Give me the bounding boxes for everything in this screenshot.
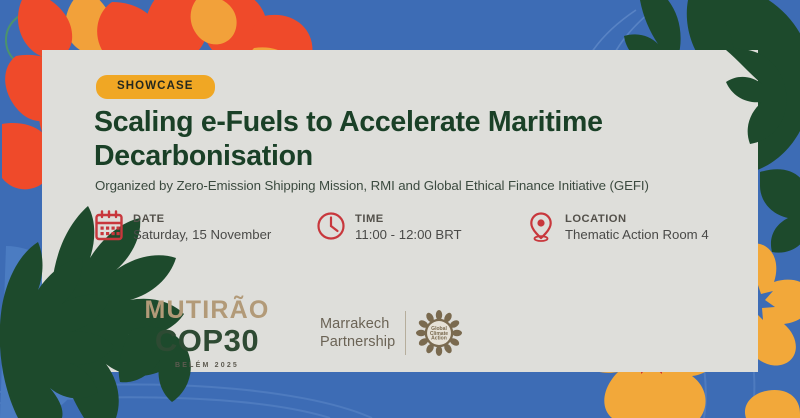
detail-time-label: TIME xyxy=(355,212,462,226)
event-title-line1: Scaling e-Fuels to Accelerate Maritime xyxy=(94,106,603,138)
detail-time-text: TIME 11:00 - 12:00 BRT xyxy=(355,211,462,244)
logo-lockup: MUTIRÃO COP30 BELÉM 2025 Marrakech Partn… xyxy=(112,298,462,369)
showcase-badge: SHOWCASE xyxy=(96,75,215,99)
event-banner: SHOWCASE Scaling e-Fuels to Accelerate M… xyxy=(0,0,800,418)
cop30-mutirao-text: MUTIRÃO xyxy=(112,298,302,323)
event-title: Scaling e-Fuels to Accelerate Maritime D… xyxy=(94,106,734,173)
detail-date: DATE Saturday, 15 November xyxy=(94,210,271,244)
event-organizers: Organized by Zero-Emission Shipping Miss… xyxy=(95,178,755,193)
detail-location: LOCATION Thematic Action Room 4 xyxy=(526,210,709,244)
marrakech-line2: Partnership xyxy=(320,333,395,351)
detail-date-text: DATE Saturday, 15 November xyxy=(133,211,271,244)
marrakech-partnership-logo: Marrakech Partnership xyxy=(320,310,462,356)
cop30-logo: MUTIRÃO COP30 BELÉM 2025 xyxy=(112,298,302,369)
event-details-row: DATE Saturday, 15 November TIME 11:00 - … xyxy=(94,210,754,260)
calendar-icon xyxy=(94,210,124,244)
cop30-belem-text: BELÉM 2025 xyxy=(112,362,302,369)
logo-divider xyxy=(405,311,406,355)
detail-location-value: Thematic Action Room 4 xyxy=(565,226,709,244)
marrakech-line1: Marrakech xyxy=(320,315,395,333)
location-pin-icon xyxy=(526,210,556,244)
cop30-text: COP30 xyxy=(112,325,302,358)
detail-location-text: LOCATION Thematic Action Room 4 xyxy=(565,211,709,244)
card-content: SHOWCASE Scaling e-Fuels to Accelerate M… xyxy=(42,50,758,372)
detail-time: TIME 11:00 - 12:00 BRT xyxy=(316,210,462,244)
global-climate-action-emblem: Global Climate Action xyxy=(416,310,462,356)
detail-time-value: 11:00 - 12:00 BRT xyxy=(355,226,462,244)
clock-icon xyxy=(316,210,346,244)
event-title-line2: Decarbonisation xyxy=(94,140,734,174)
detail-date-value: Saturday, 15 November xyxy=(133,226,271,244)
detail-date-label: DATE xyxy=(133,212,271,226)
marrakech-partnership-text: Marrakech Partnership xyxy=(320,315,395,351)
detail-location-label: LOCATION xyxy=(565,212,709,226)
emblem-line3: Action xyxy=(431,336,447,342)
